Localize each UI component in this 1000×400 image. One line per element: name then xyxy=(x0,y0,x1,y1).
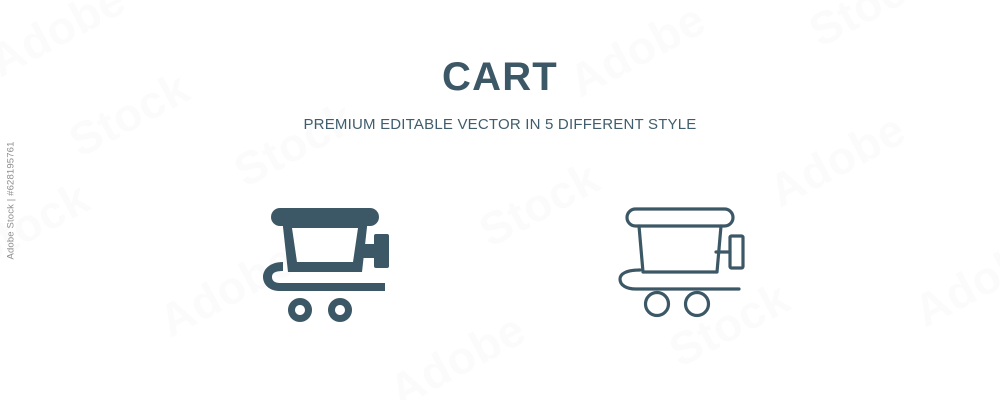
cart-wheel-left xyxy=(288,298,312,322)
cart-wheel-left xyxy=(646,293,669,316)
cart-icon-filled-glyph xyxy=(255,186,405,336)
cart-top-rail xyxy=(271,208,379,226)
cart-handle-block xyxy=(374,234,389,268)
cart-icon-outline-glyph xyxy=(610,186,760,336)
cart-icon-filled[interactable] xyxy=(255,186,405,336)
cart-bucket-shape xyxy=(282,218,368,272)
cart-icon-outline[interactable] xyxy=(610,186,760,336)
cart-wheel-right xyxy=(686,293,709,316)
cart-handle-block xyxy=(730,236,743,268)
page-subtitle: PREMIUM EDITABLE VECTOR IN 5 DIFFERENT S… xyxy=(0,116,1000,134)
page-title: CART xyxy=(0,55,1000,99)
cart-top-rail xyxy=(627,209,733,226)
watermark-tile-word: Stock xyxy=(225,90,363,198)
watermark-tile-word: Stock xyxy=(800,0,938,58)
cart-bucket-shape xyxy=(639,226,721,272)
cart-wheel-right xyxy=(328,298,352,322)
preview-canvas: Adobe Stock Adobe Stock Adobe Stock Adob… xyxy=(0,0,1000,400)
icon-variant-row xyxy=(0,186,1000,336)
